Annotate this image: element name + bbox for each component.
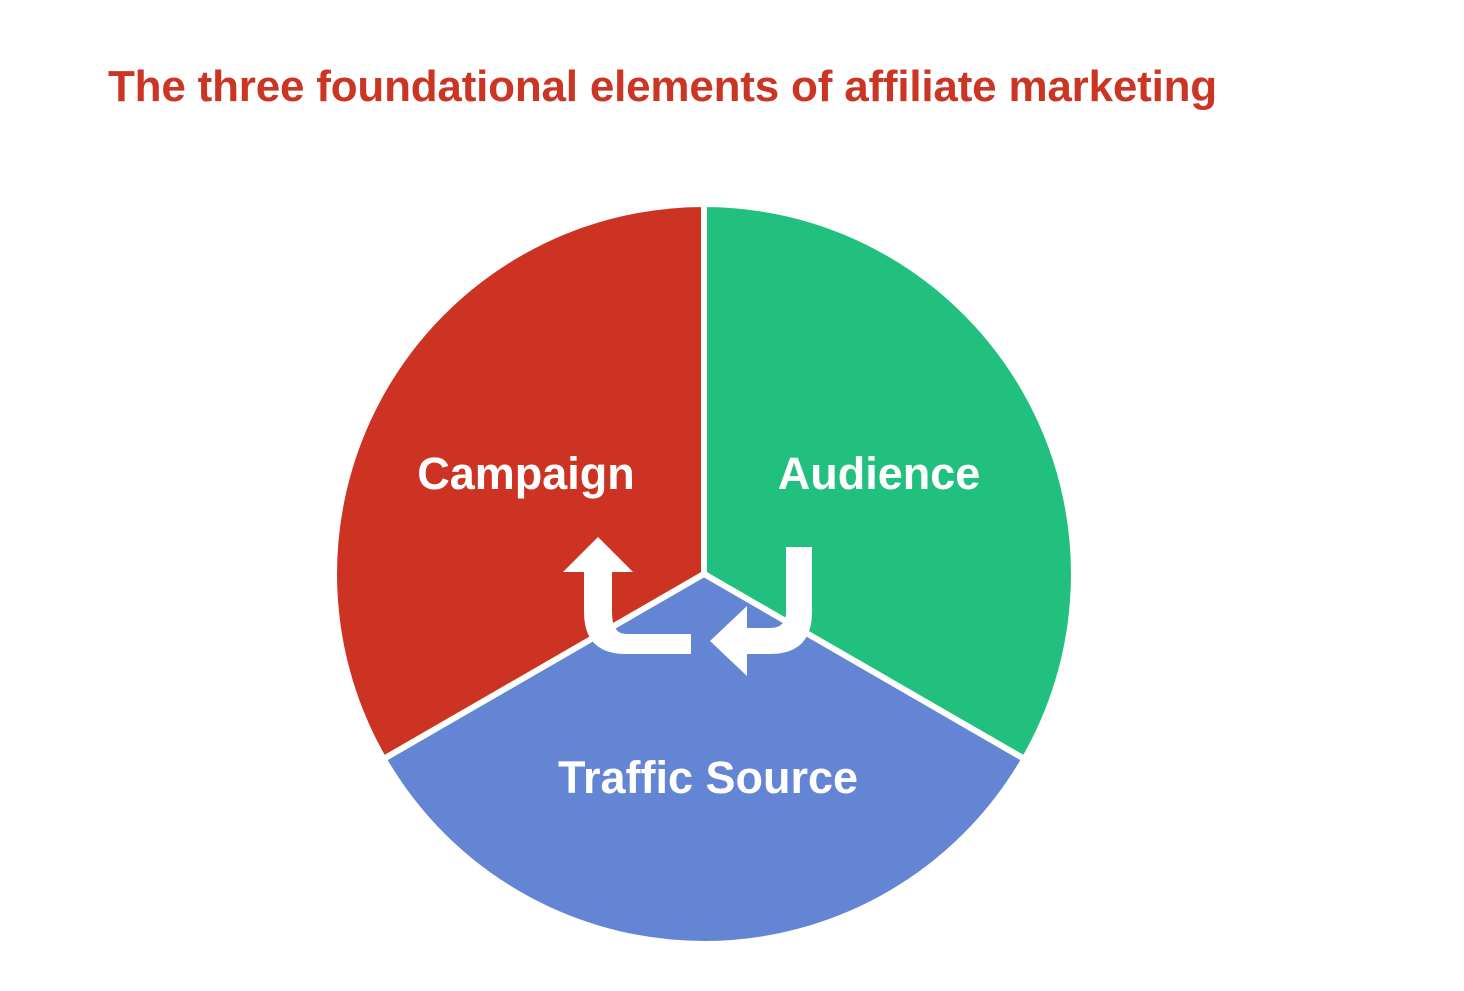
pie-chart: Campaign Audience Traffic Source bbox=[0, 0, 1464, 991]
pie-label-traffic-source: Traffic Source bbox=[558, 752, 858, 803]
chart-canvas: The three foundational elements of affil… bbox=[0, 0, 1464, 991]
pie-label-audience: Audience bbox=[778, 448, 981, 499]
pie-label-campaign: Campaign bbox=[417, 448, 635, 499]
